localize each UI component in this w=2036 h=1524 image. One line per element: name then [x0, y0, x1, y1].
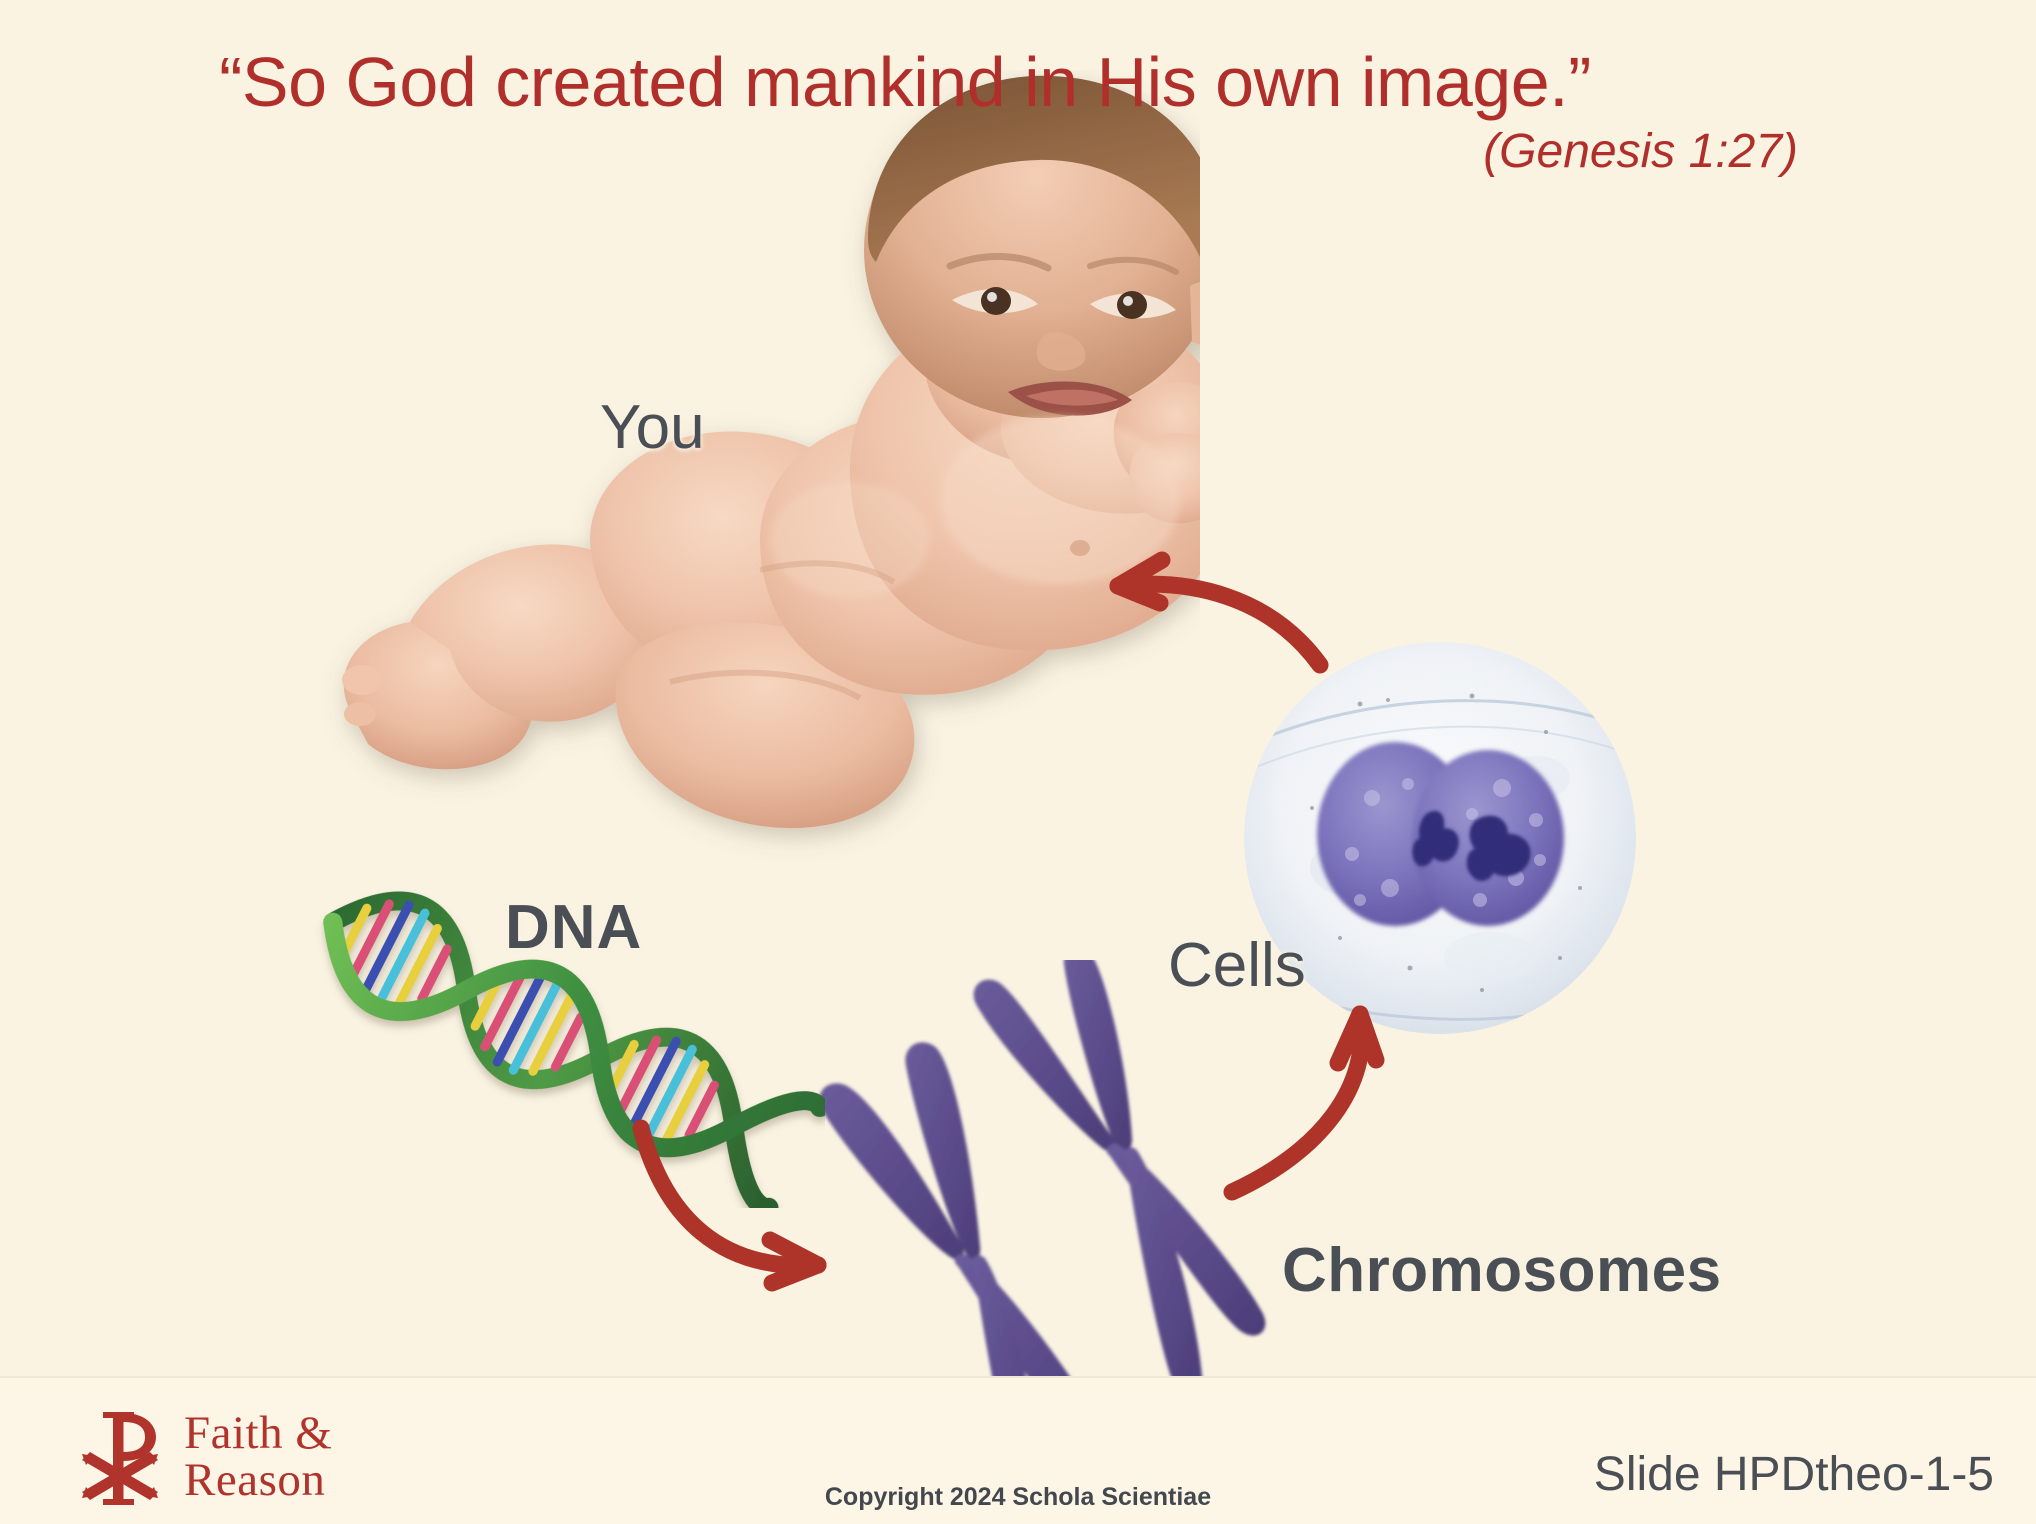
diagram-label-chromosomes: Chromosomes: [1282, 1235, 1722, 1306]
slide-canvas: “So God created mankind in His own image…: [0, 0, 2036, 1524]
diagram-label-dna: DNA: [505, 892, 642, 963]
diagram-label-cells: Cells: [1168, 930, 1306, 1001]
newborn-baby-photo: [290, 70, 1200, 860]
logo-line-1: Faith &: [184, 1410, 332, 1457]
diagram-label-you: You: [600, 392, 705, 463]
slide-number: Slide HPDtheo-1-5: [1594, 1447, 1994, 1502]
